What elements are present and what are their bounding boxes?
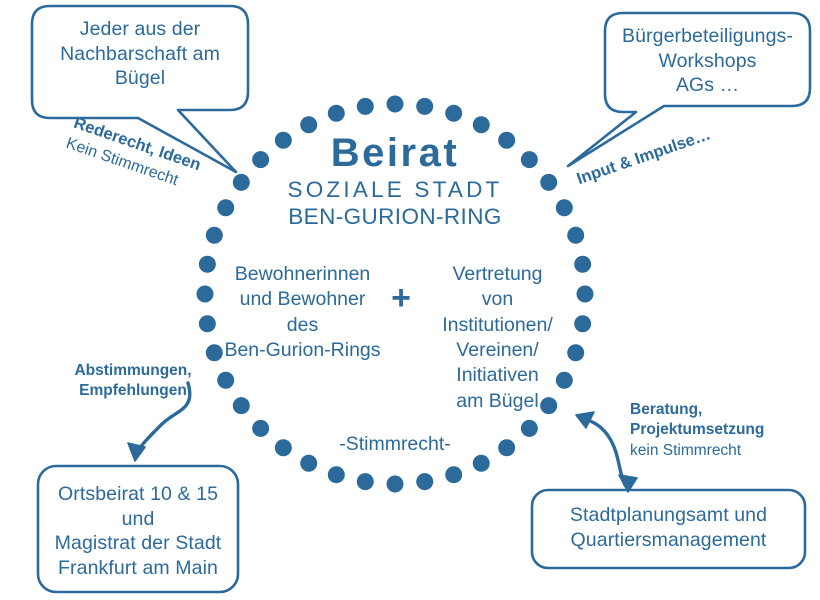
ring-dot [357,98,374,115]
ring-dot [199,315,216,332]
ring-dot [233,397,250,414]
ring-dot [387,96,404,113]
ring-dot [197,286,214,303]
connector-label-beratung-projektumsetzung: Beratung, Projektumsetzung [630,400,820,440]
ring-dot [521,420,538,437]
ring-dot [199,256,216,273]
ring-dot [567,227,584,244]
plus-sign: + [388,281,414,315]
ring-dot [217,199,234,216]
ring-dot [574,315,591,332]
ring-dot [206,227,223,244]
ring-dot [252,420,269,437]
ring-dot [275,439,292,456]
ring-dot [556,199,573,216]
ring-dot [473,455,490,472]
ring-dot [217,372,234,389]
ring-dot [416,98,433,115]
center-footer-stimmrecht: -Stimmrecht- [295,432,495,457]
ring-dot [574,256,591,273]
box-bottom-left-text: Ortsbeirat 10 & 15 und Magistrat der Sta… [40,482,236,580]
ring-dot [445,105,462,122]
center-column-right: Vertretung von Institutionen/ Vereinen/ … [420,262,575,414]
center-column-left: Bewohnerinnen und Bewohner des Ben-Gurio… [215,262,390,363]
ring-dot [577,286,594,303]
ring-dot [416,473,433,490]
ring-dot [387,476,404,493]
center-subtitle-soziale-stadt: SOZIALE STADT [245,176,545,204]
ring-dot [328,466,345,483]
speech-bubble-top-right-text: Bürgerbeteiligungs- Workshops AGs … [609,24,806,98]
connector-label-kein-stimmrecht-right: kein Stimmrecht [630,441,820,461]
connector-label-abstimmungen-empfehlungen: Abstimmungen, Empfehlungen [48,361,218,401]
diagram-canvas: Jeder aus der Nachbarschaft am Bügel Red… [0,0,820,600]
arrow-ring-to-stadtplanungsamt [576,412,637,492]
speech-bubble-top-left-text: Jeder aus der Nachbarschaft am Bügel [36,17,244,91]
ring-dot [357,473,374,490]
ring-dot [498,439,515,456]
ring-dot [328,105,345,122]
connector-label-input-impulse: Input & Impulse… [574,124,714,191]
box-bottom-right-text: Stadtplanungsamt und Quartiersmanagement [534,503,803,552]
center-title: Beirat [245,128,545,178]
center-subtitle-ben-gurion-ring: BEN-GURION-RING [245,203,545,231]
ring-dot [445,466,462,483]
ring-dot [300,455,317,472]
